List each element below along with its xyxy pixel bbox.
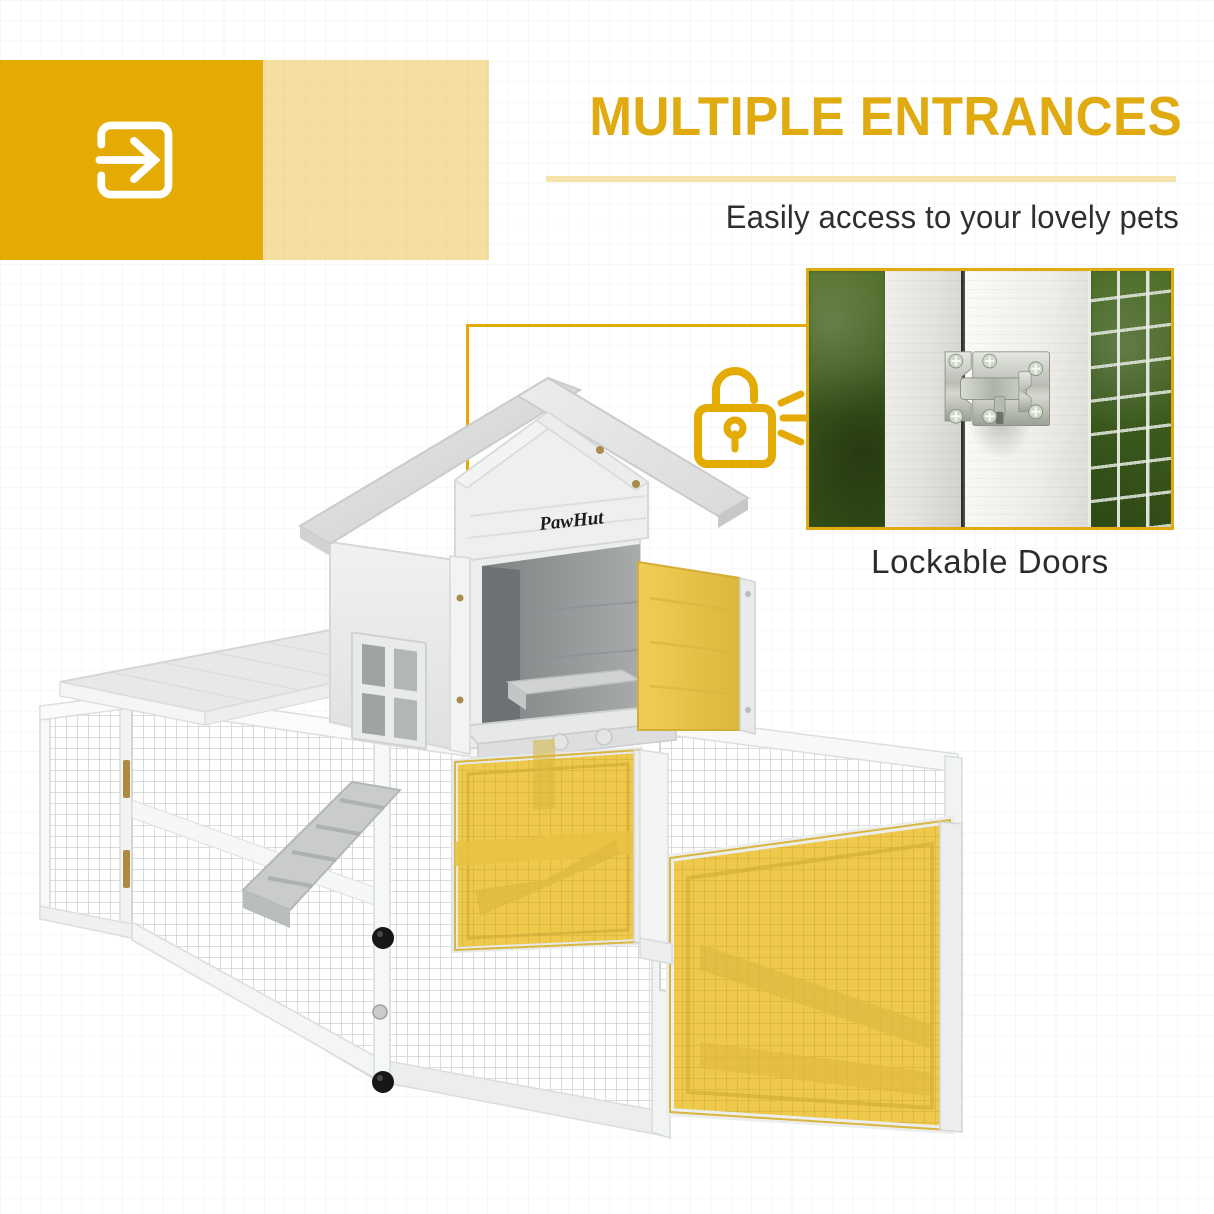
callout-line-horizontal [468, 324, 808, 327]
run-left-wing [40, 694, 132, 938]
title-divider [546, 176, 1176, 182]
yellow-mesh-gate-right [670, 820, 962, 1132]
enter-arrow-icon [84, 112, 180, 208]
page-subtitle: Easily access to your lovely pets [564, 199, 1179, 236]
yellow-mesh-door-middle [455, 739, 648, 950]
yellow-hutch-door [638, 562, 755, 734]
product-illustration-rabbit-hutch: PawHut [0, 330, 1050, 1200]
badge-solid-block [0, 60, 263, 260]
page-title: MULTIPLE ENTRANCES [589, 88, 1179, 144]
photo-wire-mesh-right [1088, 268, 1174, 530]
feature-badge [0, 60, 489, 260]
feature-callout-page: MULTIPLE ENTRANCES Easily access to your… [0, 0, 1214, 1214]
run-inner-partition [640, 750, 672, 964]
badge-tint-block [263, 60, 489, 260]
